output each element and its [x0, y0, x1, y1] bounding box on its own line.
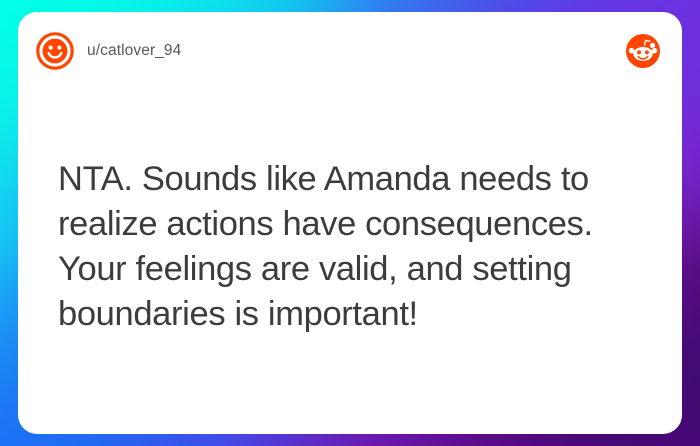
screenshot-stage: u/catlover_94 N [0, 0, 700, 446]
smiley-face-avatar-icon[interactable] [36, 32, 74, 70]
card-body: NTA. Sounds like Amanda needs to realize… [58, 157, 648, 337]
card-header: u/catlover_94 [18, 12, 682, 90]
comment-text: NTA. Sounds like Amanda needs to realize… [58, 157, 648, 337]
reddit-comment-card: u/catlover_94 N [18, 12, 682, 434]
username-label: u/catlover_94 [87, 42, 181, 60]
reddit-snoo-logo-icon[interactable] [626, 34, 660, 68]
